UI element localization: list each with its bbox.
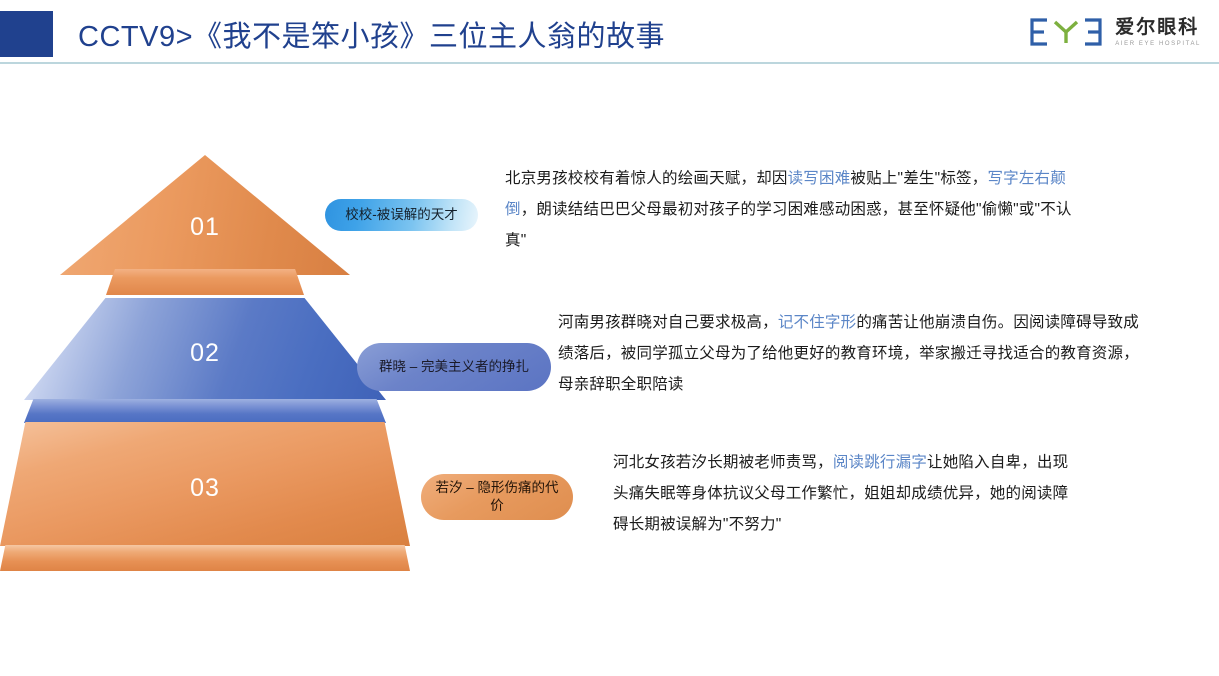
header-divider (0, 62, 1219, 64)
body-text-run: 河南男孩群晓对自己要求极高， (558, 314, 778, 331)
callout-pill-ruoxi[interactable]: 若汐 – 隐形伤痛的代价 (421, 474, 573, 520)
body-text-run: 河北女孩若汐长期被老师责骂， (613, 454, 833, 471)
story-paragraph-ruoxi: 河北女孩若汐长期被老师责骂，阅读跳行漏字让她陷入自卑，出现头痛失眠等身体抗议父母… (613, 447, 1083, 540)
pyramid-tier-02[interactable]: 02 (24, 298, 386, 400)
story-paragraph-xiaoxiao: 北京男孩校校有着惊人的绘画天赋，却因读写困难被贴上"差生"标签，写字左右颠倒，朗… (505, 163, 1085, 256)
body-text-run: 北京男孩校校有着惊人的绘画天赋，却因 (505, 170, 788, 187)
brand-name-block: 爱尔眼科 AIER EYE HOSPITAL (1115, 18, 1201, 47)
body-text-run: ，朗读结结巴巴父母最初对孩子的学习困难感动困惑，甚至怀疑他"偷懒"或"不认真" (505, 201, 1072, 249)
brand-logo: 爱尔眼科 AIER EYE HOSPITAL (1027, 10, 1201, 54)
pyramid-tier-01-base-slab (106, 269, 304, 295)
eye-wordmark-icon (1027, 17, 1105, 47)
pyramid-tier-03-base-face (0, 545, 410, 571)
page-title: CCTV9>《我不是笨小孩》三位主人翁的故事 (78, 13, 665, 55)
navy-square-mark (0, 11, 53, 57)
callout-pill-xiaoxiao[interactable]: 校校-被误解的天才 (325, 199, 478, 231)
pyramid-tier-01-base-face (106, 269, 304, 295)
pyramid-tier-03-base-slab (0, 545, 410, 571)
pyramid-tier-02-base-face (24, 399, 386, 423)
pyramid-tier-02-face (24, 298, 386, 400)
slide-header: CCTV9>《我不是笨小孩》三位主人翁的故事 爱尔眼科 AIER EYE HOS… (0, 0, 1219, 64)
highlighted-term: 记不住字形 (778, 314, 857, 331)
highlighted-term: 读写困难 (788, 170, 851, 187)
pyramid-tier-03-face (0, 422, 410, 546)
pyramid-tier-01[interactable]: 01 (60, 155, 350, 275)
pyramid-tier-01-face (60, 155, 350, 275)
body-text-run: 被贴上"差生"标签， (850, 170, 987, 187)
brand-name-en: AIER EYE HOSPITAL (1115, 41, 1201, 47)
brand-name-cn: 爱尔眼科 (1115, 18, 1199, 37)
highlighted-term: 阅读跳行漏字 (833, 454, 927, 471)
pyramid-tier-03[interactable]: 03 (0, 422, 410, 546)
story-paragraph-qunxiao: 河南男孩群晓对自己要求极高，记不住字形的痛苦让他崩溃自伤。因阅读障碍导致成绩落后… (558, 307, 1143, 400)
callout-pill-qunxiao[interactable]: 群晓 – 完美主义者的挣扎 (357, 343, 551, 391)
pyramid-tier-02-base-slab (24, 399, 386, 423)
